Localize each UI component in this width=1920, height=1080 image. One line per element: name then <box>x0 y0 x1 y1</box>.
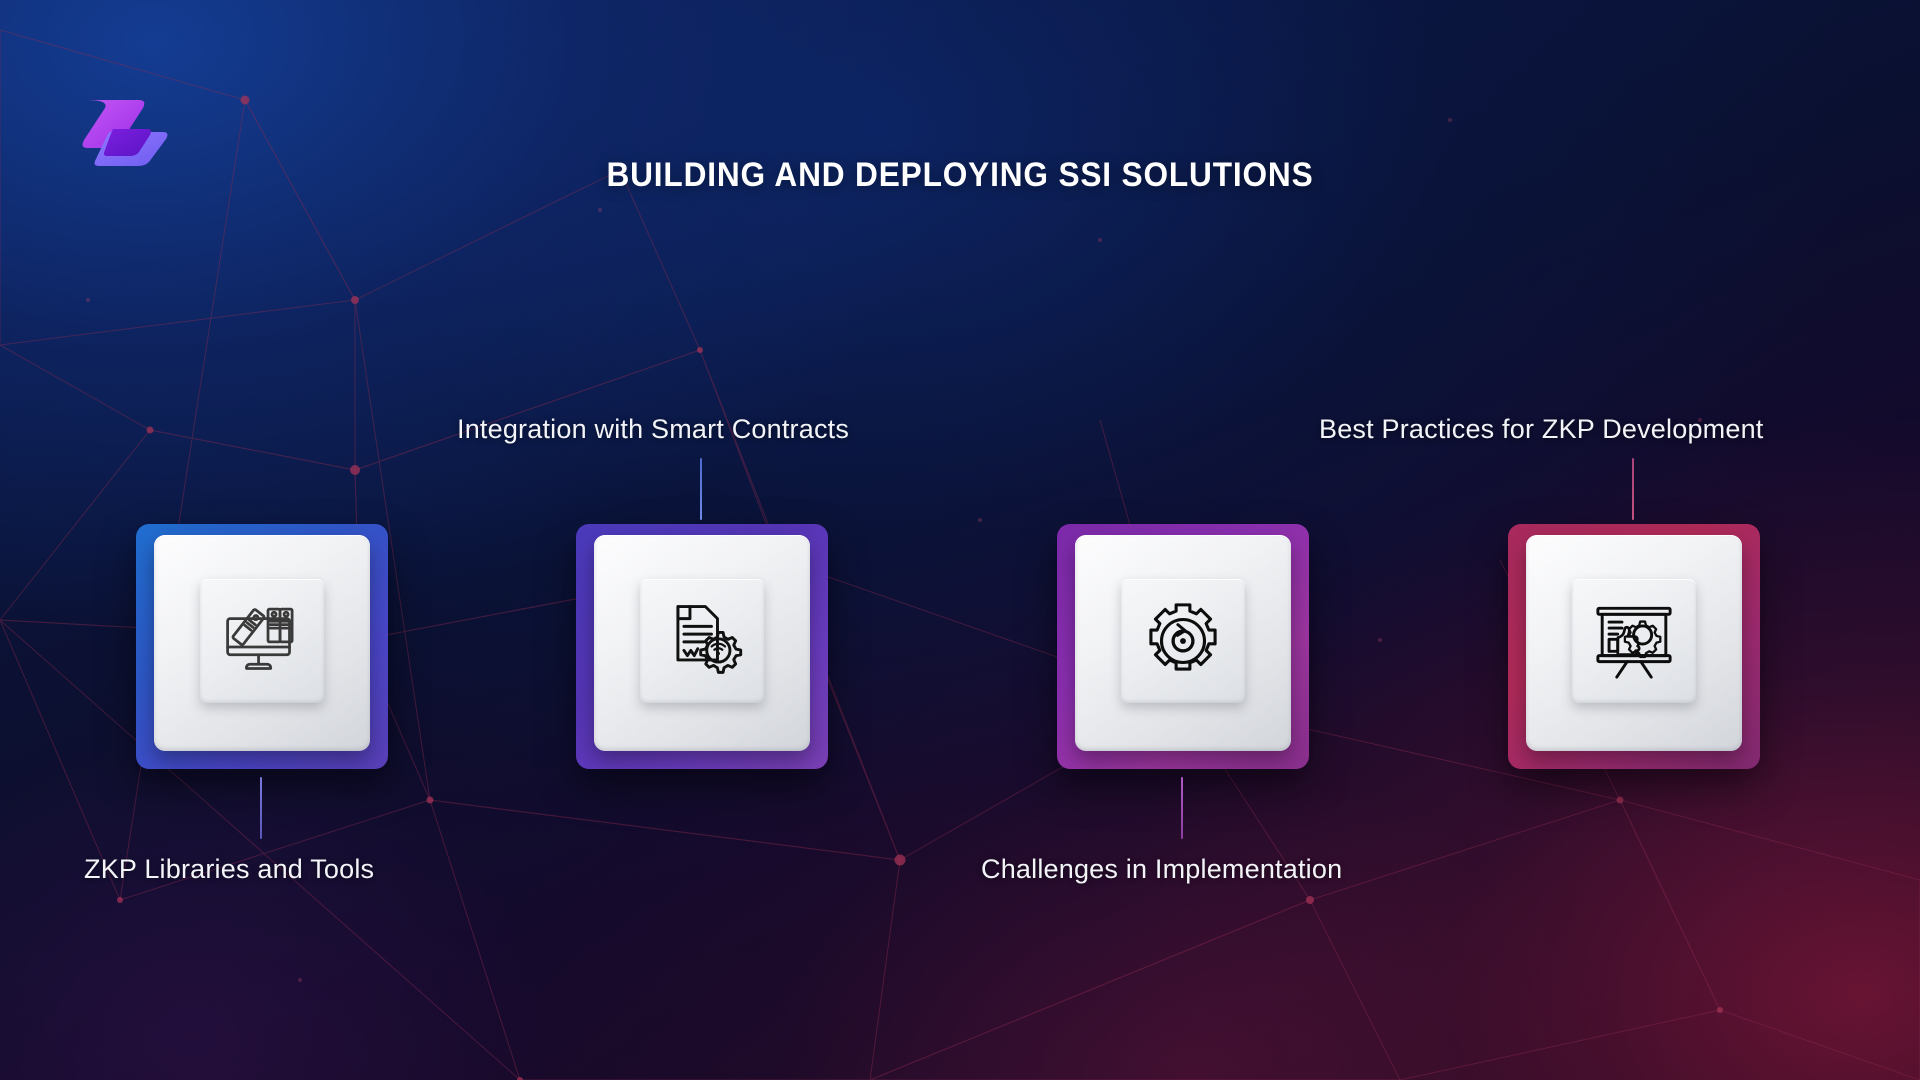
icon-plate <box>1121 579 1245 703</box>
card-tile <box>1526 535 1742 751</box>
card-label: Integration with Smart Contracts <box>457 414 849 445</box>
connector-line <box>1632 458 1634 520</box>
icon-plate <box>640 579 764 703</box>
card-challenges-in-implementation[interactable]: Challenges in Implementation <box>1057 524 1309 769</box>
card-zkp-libraries-and-tools[interactable]: ZKP Libraries and Tools <box>136 524 388 769</box>
card-label: Challenges in Implementation <box>981 854 1342 885</box>
slide-canvas: BUILDING AND DEPLOYING SSI SOLUTIONS <box>0 0 1920 1080</box>
presentation-board-thumbsup-gear-icon <box>1591 598 1677 684</box>
card-label: Best Practices for ZKP Development <box>1319 414 1763 445</box>
monitor-with-books-icon <box>219 598 305 684</box>
card-best-practices-for-zkp-development[interactable]: Best Practices for ZKP Development <box>1508 524 1760 769</box>
icon-plate <box>1572 579 1696 703</box>
card-tile <box>1075 535 1291 751</box>
gear-with-refresh-arrow-icon <box>1140 598 1226 684</box>
connector-line <box>1181 777 1183 839</box>
card-tile <box>154 535 370 751</box>
card-integration-with-smart-contracts[interactable]: Integration with Smart Contracts <box>576 524 828 769</box>
connector-line <box>260 777 262 839</box>
connector-line <box>700 458 702 520</box>
card-tile <box>594 535 810 751</box>
icon-plate <box>200 579 324 703</box>
card-label: ZKP Libraries and Tools <box>84 854 374 885</box>
contract-document-gear-wifi-icon <box>659 598 745 684</box>
cards-row: ZKP Libraries and Tools <box>0 0 1920 1080</box>
